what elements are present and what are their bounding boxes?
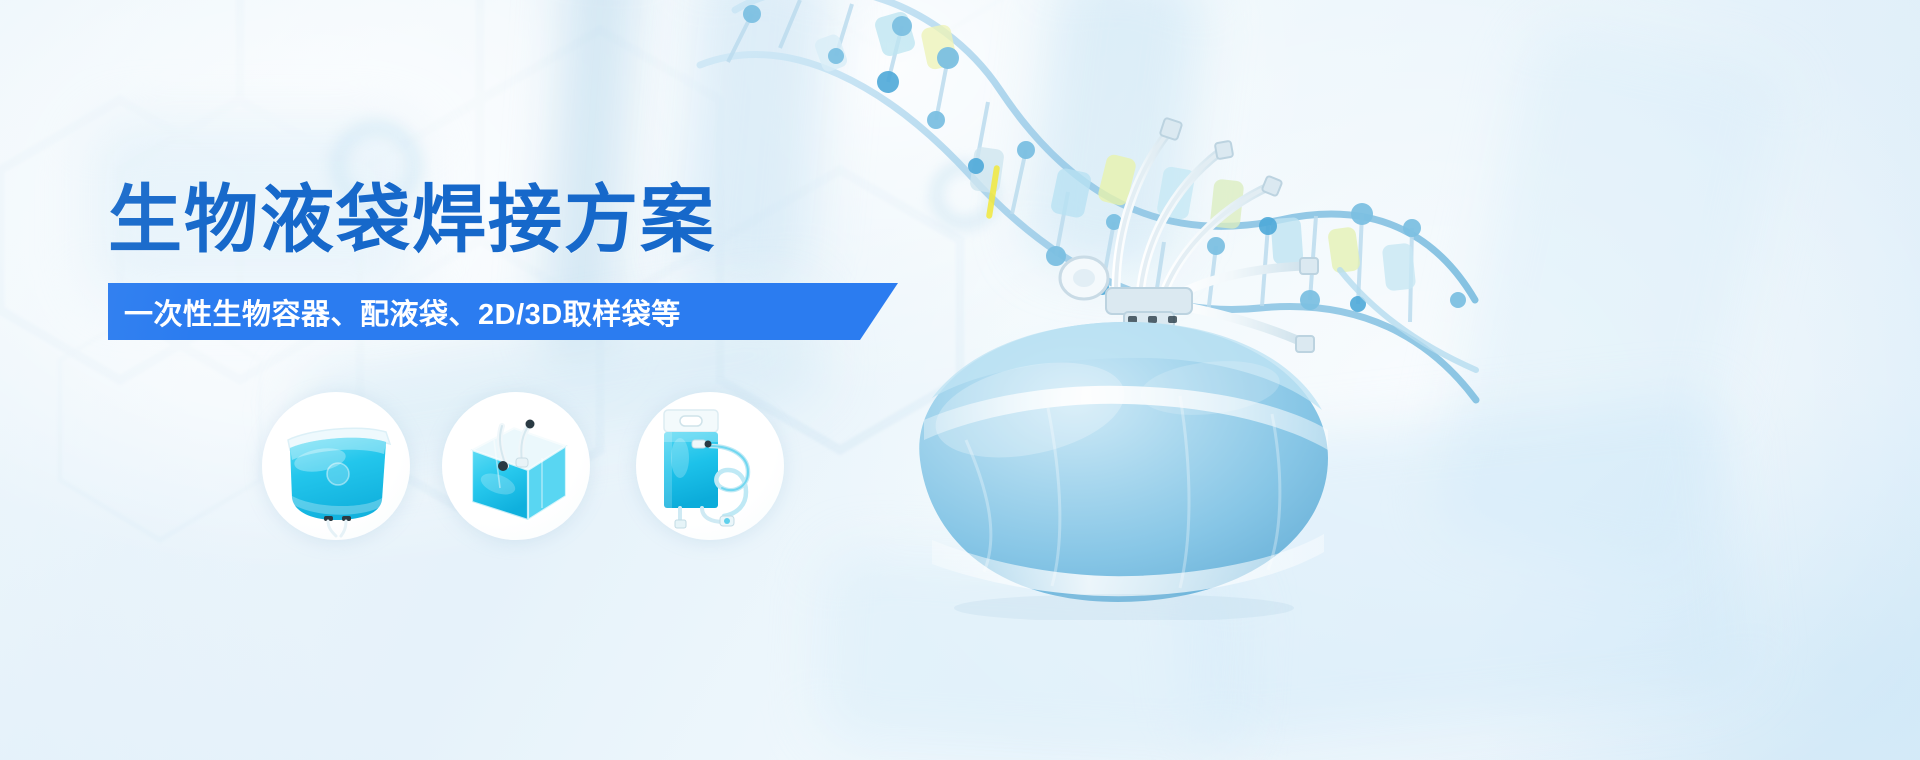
marketing-banner: 生物液袋焊接方案 一次性生物容器、配液袋、2D/3D取样袋等 [0, 0, 1920, 760]
background-vignette [0, 0, 1920, 760]
